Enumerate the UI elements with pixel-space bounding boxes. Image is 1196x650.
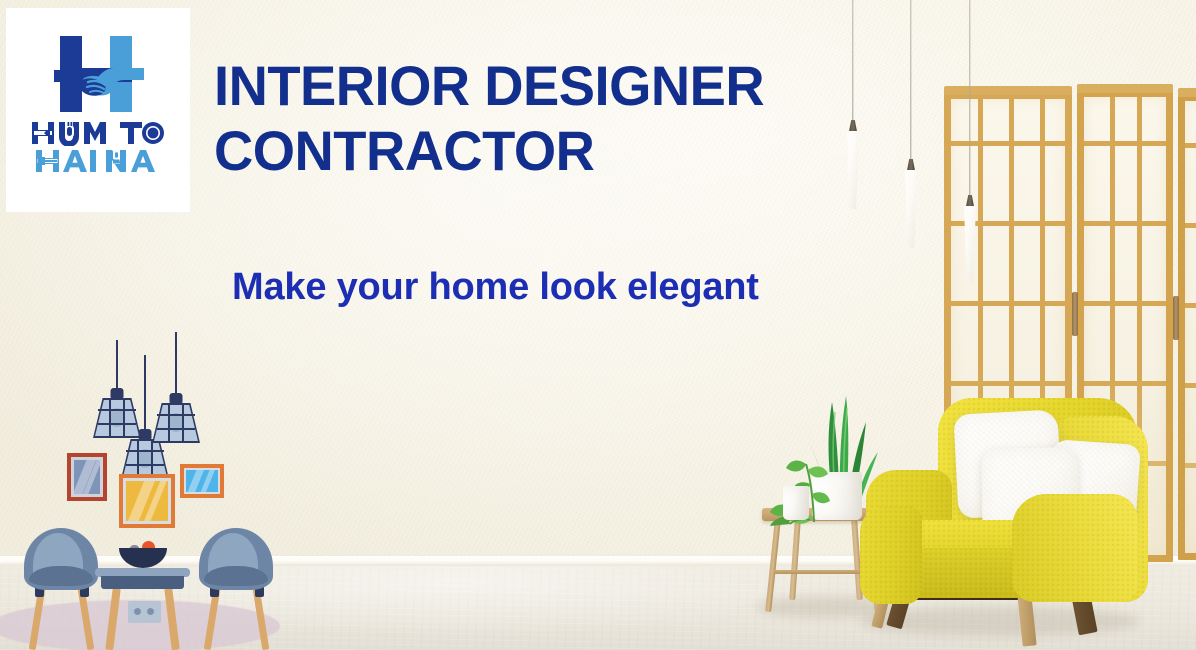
trailing-plant	[764, 436, 856, 526]
handshake-h-monogram-icon	[54, 34, 144, 116]
interior-designer-banner: INTERIOR DESIGNER CONTRACTOR Make your h…	[0, 0, 1196, 650]
table-leg	[164, 588, 179, 650]
pendant-cord	[910, 0, 911, 163]
yellow-armchair	[852, 398, 1196, 650]
logo-line-1	[6, 120, 190, 146]
armchair-arm-left-front	[860, 506, 922, 604]
white-cone-pendant-light	[957, 0, 983, 285]
cage-pendant-lamp	[152, 332, 200, 450]
logo-hai-na-wordmark	[36, 148, 160, 174]
frame-artwork	[74, 460, 100, 494]
shoji-panel-rail	[1077, 84, 1173, 93]
shoji-panel-rail	[1178, 88, 1196, 97]
shoji-hinge	[1072, 292, 1078, 336]
tagline: Make your home look elegant	[232, 266, 759, 309]
headline-line-2: CONTRACTOR	[214, 119, 893, 184]
picture-frame-yellow	[119, 474, 175, 528]
trailing-plant-pot	[783, 486, 809, 520]
shoji-hinge	[1173, 296, 1179, 340]
table-leg	[789, 520, 801, 600]
table-apron	[101, 576, 184, 589]
headline-line-1: INTERIOR DESIGNER	[214, 54, 893, 119]
table-leg	[105, 588, 120, 650]
pendant-cord	[969, 0, 970, 199]
company-logo-text	[6, 120, 190, 174]
lamp-cap	[170, 393, 183, 403]
lamp-cord	[175, 332, 177, 397]
company-logo-box[interactable]	[6, 8, 190, 212]
chair-seat	[29, 566, 93, 586]
lamp-cord	[144, 355, 146, 433]
table-leg	[765, 520, 781, 612]
white-cone-pendant-light	[898, 0, 924, 248]
molded-shell-chair	[24, 528, 98, 650]
picture-frame-blue	[67, 453, 107, 501]
armchair-arm-right-front	[1012, 494, 1138, 602]
chair-seat	[204, 566, 268, 586]
trailing-plant-leaves	[764, 436, 856, 526]
coffee-table	[95, 568, 190, 650]
frame-artwork	[126, 481, 168, 521]
lamp-cord	[116, 340, 118, 392]
lamp-cap	[139, 429, 152, 439]
frame-artwork	[186, 470, 218, 492]
picture-frame-cyan	[180, 464, 224, 498]
logo-hum-to-wordmark	[32, 120, 164, 146]
page-title: INTERIOR DESIGNER CONTRACTOR	[214, 54, 893, 184]
molded-shell-chair	[199, 528, 273, 650]
lamp-cage	[157, 403, 195, 443]
pendant-glass-shade	[957, 206, 983, 284]
pendant-glass-shade	[898, 170, 924, 248]
logo-line-2	[6, 148, 190, 174]
